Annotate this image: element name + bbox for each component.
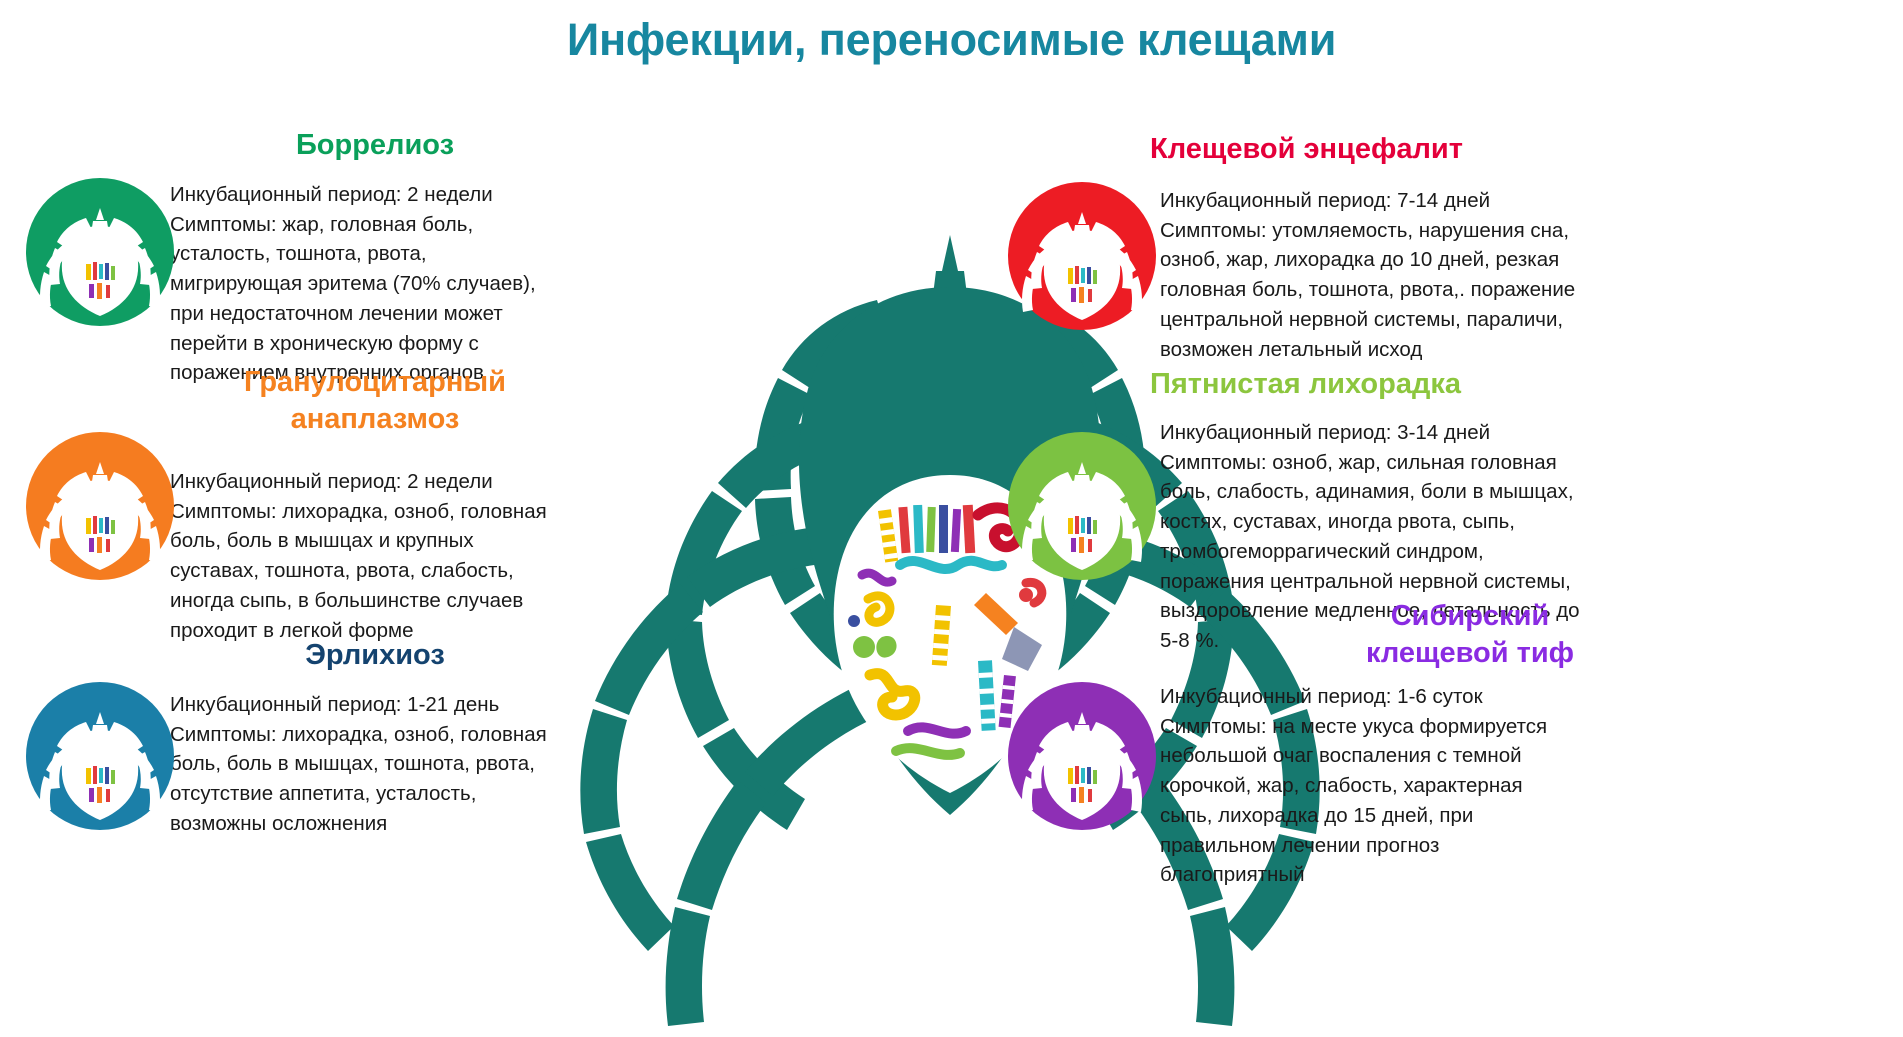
infographic-root: Инфекции, переносимые клещами — [0, 0, 1903, 1037]
badge-ehrlichiosis[interactable] — [26, 682, 174, 830]
section-body-ehrlichiosis: Инкубационный период: 1-21 день Симптомы… — [170, 690, 600, 839]
badge-spotted-fever[interactable] — [1008, 432, 1156, 580]
badge-anaplasmosis[interactable] — [26, 432, 174, 580]
page-title: Инфекции, переносимые клещами — [0, 14, 1903, 66]
section-heading-anaplasmosis: Гранулоцитарный анаплазмоз — [165, 364, 585, 437]
section-heading-encephalitis: Клещевой энцефалит — [1150, 131, 1770, 168]
section-body-borreliosis: Инкубационный период: 2 недели Симптомы:… — [170, 180, 600, 388]
section-heading-siberian-typhus: Сибирский клещевой тиф — [1160, 598, 1780, 671]
section-heading-ehrlichiosis: Эрлихиоз — [165, 637, 585, 674]
section-body-anaplasmosis: Инкубационный период: 2 недели Симптомы:… — [170, 467, 600, 645]
section-heading-spotted-fever: Пятнистая лихорадка — [1150, 366, 1770, 403]
section-body-siberian-typhus: Инкубационный период: 1-6 суток Симптомы… — [1160, 682, 1900, 890]
badge-borreliosis[interactable] — [26, 178, 174, 326]
section-heading-borreliosis: Боррелиоз — [165, 127, 585, 164]
badge-encephalitis[interactable] — [1008, 182, 1156, 330]
badge-siberian-typhus[interactable] — [1008, 682, 1156, 830]
section-body-encephalitis: Инкубационный период: 7-14 дней Симптомы… — [1160, 186, 1900, 364]
